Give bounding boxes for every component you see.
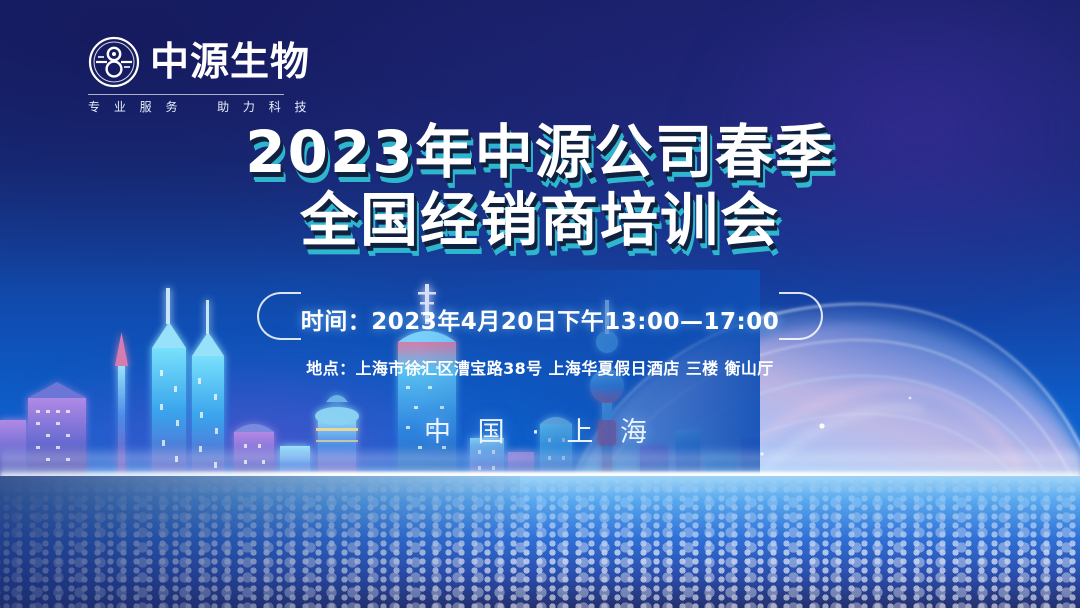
event-title-line-2: 全国经销商培训会 [0, 186, 1080, 254]
city-text: 中 国 · 上 海 [0, 410, 1080, 449]
brand-tagline: 专 业 服 务 助 力 科 技 [88, 99, 312, 116]
brand-logo: 中源生物 专 业 服 务 助 力 科 技 [88, 36, 312, 116]
circular-molecule-emblem-icon [88, 36, 140, 88]
brand-logo-row: 中源生物 [88, 36, 312, 88]
time-badge-text: 时间：2023年4月20日下午13:00—17:00 [257, 296, 823, 344]
event-title-line-1: 2023年中源公司春季 [0, 118, 1080, 186]
time-badge: 时间：2023年4月20日下午13:00—17:00 [0, 296, 1080, 344]
brand-name: 中源生物 [150, 43, 310, 82]
event-title: 2023年中源公司春季 全国经销商培训会 [0, 118, 1080, 255]
ground-shadow [0, 476, 520, 608]
brand-divider [88, 94, 284, 95]
venue-text: 地点：上海市徐汇区漕宝路38号 上海华夏假日酒店 三楼 衡山厅 [0, 355, 1080, 379]
event-poster: 中源生物 专 业 服 务 助 力 科 技 2023年中源公司春季 全国经销商培训… [0, 0, 1080, 608]
